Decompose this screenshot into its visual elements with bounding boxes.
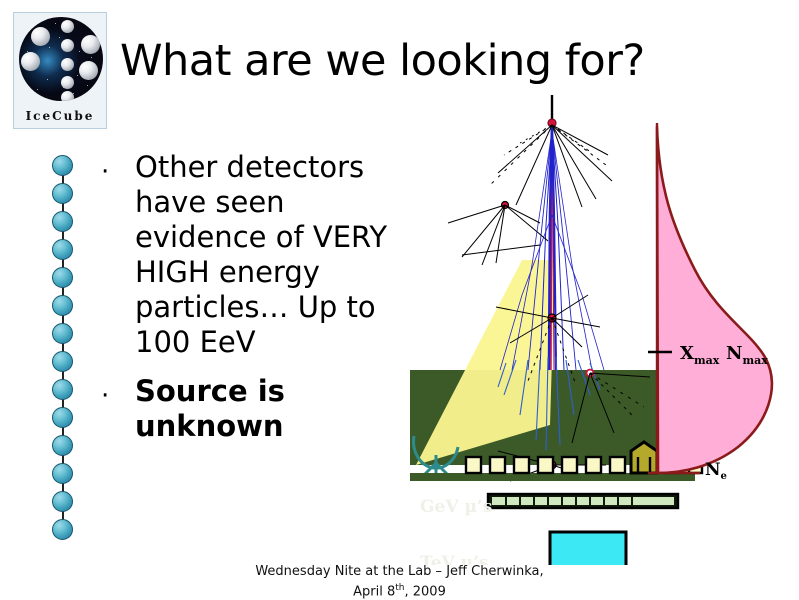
logo-dom-sphere <box>61 76 74 89</box>
footer-line-2: April 8th, 2009 <box>0 580 799 600</box>
dom-string-sphere <box>52 323 73 344</box>
surface-station <box>586 457 601 473</box>
bullet-text: Other detectors have seen evidence of VE… <box>135 150 398 360</box>
list-item: · Source is unknown <box>98 374 398 444</box>
dom-string-sphere <box>52 519 73 540</box>
dom-string-sphere <box>52 351 73 372</box>
icecube-logo-disc <box>19 17 103 101</box>
footer: Wednesday Nite at the Lab – Jeff Cherwin… <box>0 563 799 600</box>
dom-string-sphere <box>52 379 73 400</box>
shower-profile-plot: Xmax Nmax Ne <box>648 123 772 482</box>
logo-dom-sphere <box>61 58 74 71</box>
dom-string-sphere <box>52 491 73 512</box>
dom-string-sphere <box>52 183 73 204</box>
footer-line-1: Wednesday Nite at the Lab – Jeff Cherwin… <box>0 563 799 580</box>
logo-dom-sphere-large <box>21 52 40 71</box>
surface-station <box>466 457 481 473</box>
logo-dom-sphere <box>61 91 74 101</box>
slide-title: What are we looking for? <box>120 36 645 86</box>
n-e-label: Ne <box>705 460 727 482</box>
surface-station <box>514 457 529 473</box>
footer-year: , 2009 <box>405 584 446 599</box>
bullet-list: · Other detectors have seen evidence of … <box>98 150 398 444</box>
tev-muon-detector <box>550 532 626 565</box>
icecube-logo-caption: IceCube <box>14 109 106 123</box>
footer-ordinal: th <box>395 583 404 593</box>
dom-string-sphere <box>52 267 73 288</box>
dom-string-sphere <box>52 211 73 232</box>
dom-string-sphere <box>52 155 73 176</box>
footer-date: April 8 <box>353 584 395 599</box>
surface-station <box>610 457 625 473</box>
surface-station <box>538 457 553 473</box>
central-building <box>631 442 657 473</box>
surface-station <box>562 457 577 473</box>
air-shower-diagram: GeV µ’s TeV µ’s Xmax Nmax Ne <box>400 95 799 565</box>
bullet-text: Source is unknown <box>135 374 398 444</box>
icecube-logo: IceCube <box>13 12 107 129</box>
dom-string-sphere <box>52 295 73 316</box>
surface-station <box>490 457 505 473</box>
logo-dom-sphere-large <box>79 61 98 80</box>
dom-string-sphere <box>52 239 73 260</box>
gev-muon-detector-strip <box>488 494 678 508</box>
logo-dom-sphere-large <box>81 35 100 54</box>
dom-string-decoration <box>52 155 74 530</box>
shower-profile-curve <box>657 127 772 473</box>
dom-string-sphere <box>52 463 73 484</box>
bullet-marker: · <box>98 374 135 418</box>
list-item: · Other detectors have seen evidence of … <box>98 150 398 360</box>
dom-string-sphere <box>52 407 73 428</box>
bullet-marker: · <box>98 150 135 194</box>
gev-muon-label: GeV µ’s <box>420 497 492 517</box>
logo-dom-sphere <box>61 20 74 33</box>
dom-string-sphere <box>52 435 73 456</box>
logo-dom-sphere <box>61 39 74 52</box>
logo-dom-sphere-large <box>31 27 50 46</box>
